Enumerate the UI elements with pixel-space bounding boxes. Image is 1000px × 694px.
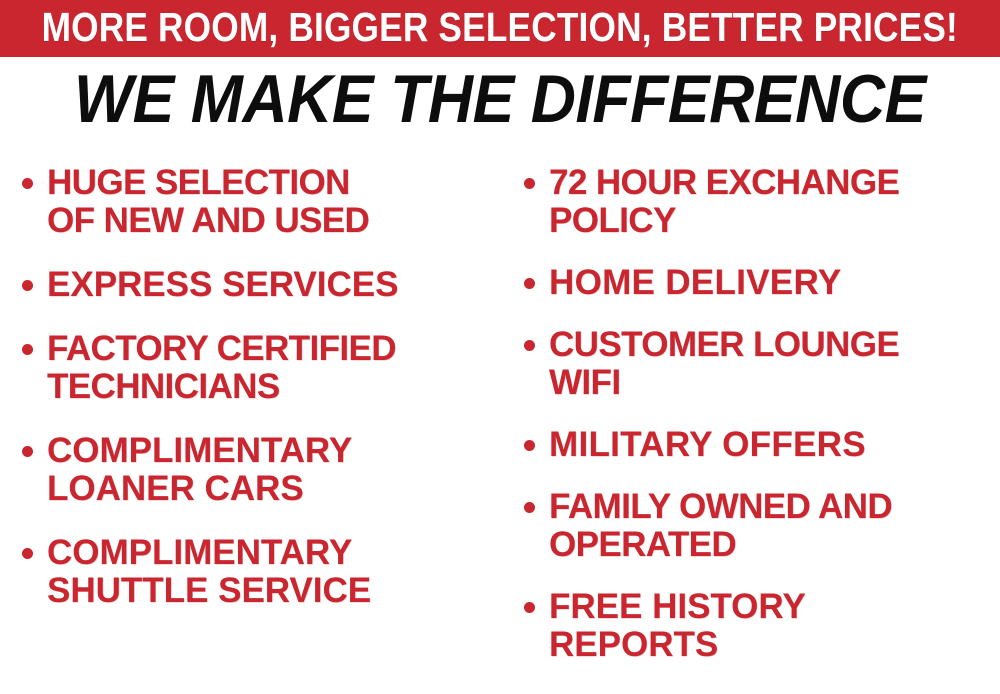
list-item-label: HOME DELIVERY — [549, 264, 841, 302]
benefits-columns: HUGE SELECTION OF NEW AND USED EXPRESS S… — [0, 156, 1000, 694]
top-banner: MORE ROOM, BIGGER SELECTION, BETTER PRIC… — [0, 0, 1000, 57]
list-item: COMPLIMENTARY SHUTTLE SERVICE — [22, 534, 500, 610]
list-item: CUSTOMER LOUNGE WIFI — [524, 326, 1000, 402]
list-item-label: EXPRESS SERVICES — [47, 266, 398, 304]
benefits-column-right: 72 HOUR EXCHANGE POLICY HOME DELIVERY CU… — [500, 156, 1000, 694]
top-banner-text: MORE ROOM, BIGGER SELECTION, BETTER PRIC… — [42, 7, 958, 50]
list-item: FAMILY OWNED AND OPERATED — [524, 488, 1000, 564]
list-item: COMPLIMENTARY LOANER CARS — [22, 432, 500, 508]
bullet-dot-icon — [22, 446, 33, 457]
list-item-label: CUSTOMER LOUNGE WIFI — [549, 326, 899, 402]
list-item-label: HUGE SELECTION OF NEW AND USED — [47, 164, 369, 240]
bullet-dot-icon — [22, 280, 33, 291]
list-item-label: COMPLIMENTARY SHUTTLE SERVICE — [47, 534, 371, 610]
page-title: WE MAKE THE DIFFERENCE — [74, 65, 926, 133]
bullet-dot-icon — [22, 548, 33, 559]
promo-poster: MORE ROOM, BIGGER SELECTION, BETTER PRIC… — [0, 0, 1000, 694]
list-item: 72 HOUR EXCHANGE POLICY — [524, 164, 1000, 240]
list-item-label: FACTORY CERTIFIED TECHNICIANS — [47, 330, 396, 406]
benefits-column-left: HUGE SELECTION OF NEW AND USED EXPRESS S… — [0, 156, 500, 694]
bullet-dot-icon — [524, 340, 535, 351]
list-item: HUGE SELECTION OF NEW AND USED — [22, 164, 500, 240]
bullet-dot-icon — [22, 178, 33, 189]
bullet-dot-icon — [524, 178, 535, 189]
bullet-dot-icon — [524, 602, 535, 613]
bullet-dot-icon — [524, 440, 535, 451]
bullet-dot-icon — [524, 502, 535, 513]
list-item: FREE HISTORY REPORTS — [524, 588, 1000, 664]
list-item: EXPRESS SERVICES — [22, 266, 500, 304]
list-item-label: MILITARY OFFERS — [549, 426, 866, 464]
bullet-dot-icon — [524, 278, 535, 289]
list-item: FACTORY CERTIFIED TECHNICIANS — [22, 330, 500, 406]
bullet-dot-icon — [22, 344, 33, 355]
list-item-label: COMPLIMENTARY LOANER CARS — [47, 432, 352, 508]
list-item: MILITARY OFFERS — [524, 426, 1000, 464]
list-item-label: FREE HISTORY REPORTS — [549, 588, 806, 664]
list-item: HOME DELIVERY — [524, 264, 1000, 302]
list-item-label: FAMILY OWNED AND OPERATED — [549, 488, 892, 564]
list-item-label: 72 HOUR EXCHANGE POLICY — [549, 164, 899, 240]
headline: WE MAKE THE DIFFERENCE — [0, 60, 1000, 138]
